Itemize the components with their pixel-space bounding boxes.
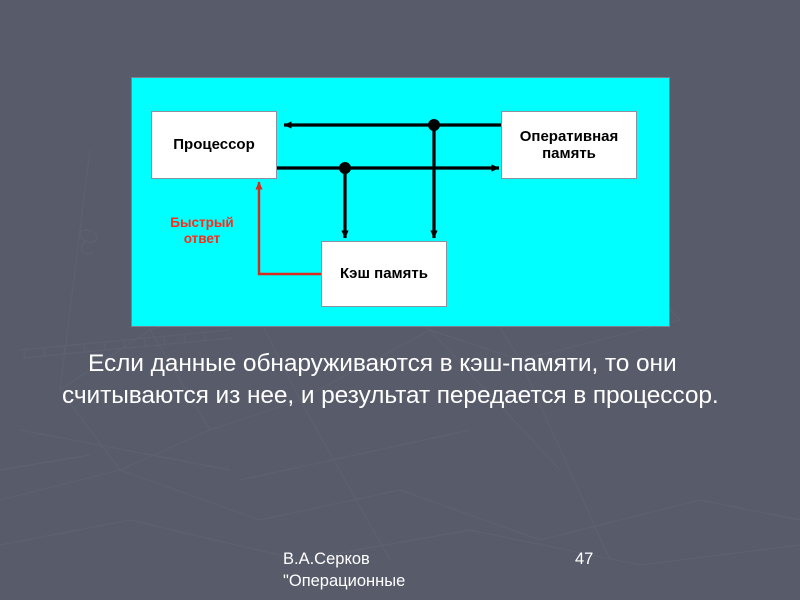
- slide: Процессор Оперативная память Кэш память …: [0, 0, 800, 600]
- node-main-memory[interactable]: Оперативная память: [501, 111, 637, 179]
- node-cache-memory[interactable]: Кэш память: [321, 241, 447, 307]
- node-processor[interactable]: Процессор: [151, 111, 277, 179]
- node-cache-memory-label: Кэш память: [340, 265, 428, 282]
- fast-answer-annotation: Быстрый ответ: [146, 215, 258, 247]
- edge-cache-to-cpu-fast: [259, 182, 321, 274]
- slide-body-text: Если данные обнаруживаются в кэш-памяти,…: [62, 348, 774, 412]
- junction-dot-upper: [428, 119, 440, 131]
- node-processor-label: Процессор: [173, 136, 254, 153]
- edge-cpu-to-cache: [339, 162, 351, 238]
- edge-ram-to-cache: [428, 119, 440, 238]
- node-main-memory-label: Оперативная память: [520, 128, 619, 163]
- footer-author: В.А.Серков "Операционные: [283, 548, 513, 592]
- cache-architecture-diagram: Процессор Оперативная память Кэш память …: [131, 77, 670, 327]
- footer-page-number: 47: [575, 548, 593, 570]
- junction-dot-lower: [339, 162, 351, 174]
